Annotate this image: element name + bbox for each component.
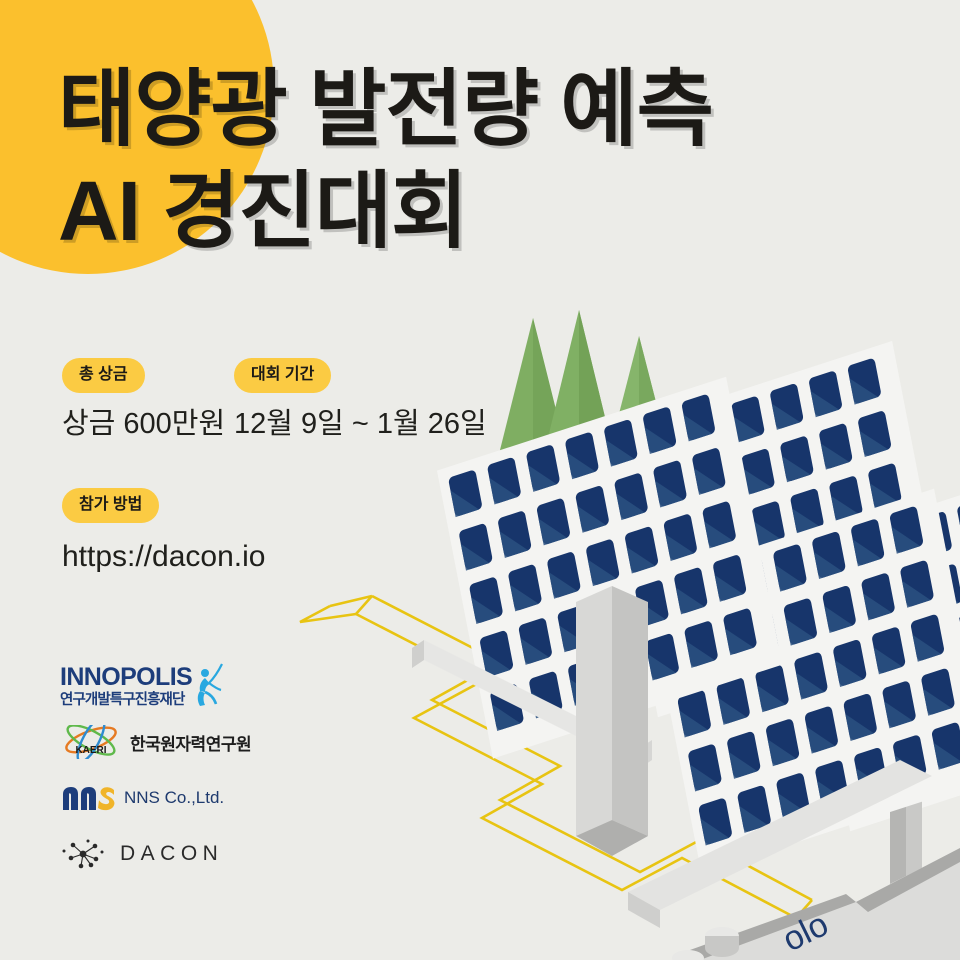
panel-post-center (576, 586, 648, 856)
panel-base-front-right (628, 760, 932, 928)
sponsor-nns: NNS Co.,Ltd. (60, 770, 360, 826)
panel-base-front-left (412, 640, 652, 768)
kaeri-atom-icon: KAERI (60, 725, 122, 759)
sponsor-list: INNOPOLIS 연구개발특구진흥재단 KAERI (60, 658, 360, 882)
panel-post-rear-right (890, 752, 922, 884)
ground-bollards (672, 927, 739, 960)
join-block: 참가 방법 https://dacon.io (62, 488, 265, 575)
dacon-network-icon (60, 838, 106, 870)
cable-lines (300, 596, 812, 918)
competition-info: 총 상금 상금 600만원 대회 기간 12월 9일 ~ 1월 26일 (62, 358, 622, 442)
period-value: 12월 9일 ~ 1월 26일 (234, 407, 487, 442)
panel-array-front-right (645, 489, 960, 874)
panel-array-rear-right (795, 458, 960, 831)
innopolis-name: INNOPOLIS (60, 665, 192, 690)
title-line-1: 태양광 발전량 예측 (58, 58, 878, 160)
nns-name: NNS Co.,Ltd. (124, 788, 224, 808)
poster-title: 태양광 발전량 예측 AI 경진대회 (58, 58, 878, 263)
panel-array-upper-middle (603, 341, 947, 717)
poster-canvas: olo 태양광 발전량 예측 AI 경진대회 총 상금 상금 600만원 대회 … (0, 0, 960, 960)
info-row-primary: 총 상금 상금 600만원 대회 기간 12월 9일 ~ 1월 26일 (62, 358, 622, 442)
innopolis-subname: 연구개발특구진흥재단 (60, 693, 192, 708)
innopolis-climber-icon (192, 662, 226, 710)
period-block: 대회 기간 12월 9일 ~ 1월 26일 (234, 358, 534, 442)
title-line-2: AI 경진대회 (58, 160, 878, 262)
dacon-name: DACON (120, 842, 223, 866)
nns-logo-icon (60, 783, 118, 813)
period-badge: 대회 기간 (234, 358, 331, 393)
sponsor-innopolis: INNOPOLIS 연구개발특구진흥재단 (60, 658, 360, 714)
prize-value: 상금 600만원 (62, 407, 225, 442)
prize-badge: 총 상금 (62, 358, 145, 393)
kaeri-mark-text: KAERI (75, 745, 106, 756)
ground-plate-foreground (690, 848, 960, 960)
sponsor-dacon: DACON (60, 826, 360, 882)
join-url[interactable]: https://dacon.io (62, 539, 265, 575)
ground-plate-caption: olo (777, 905, 834, 959)
prize-block: 총 상금 상금 600만원 (62, 358, 234, 442)
join-badge: 참가 방법 (62, 488, 159, 523)
sponsor-kaeri: KAERI 한국원자력연구원 (60, 714, 360, 770)
kaeri-name: 한국원자력연구원 (130, 730, 251, 755)
